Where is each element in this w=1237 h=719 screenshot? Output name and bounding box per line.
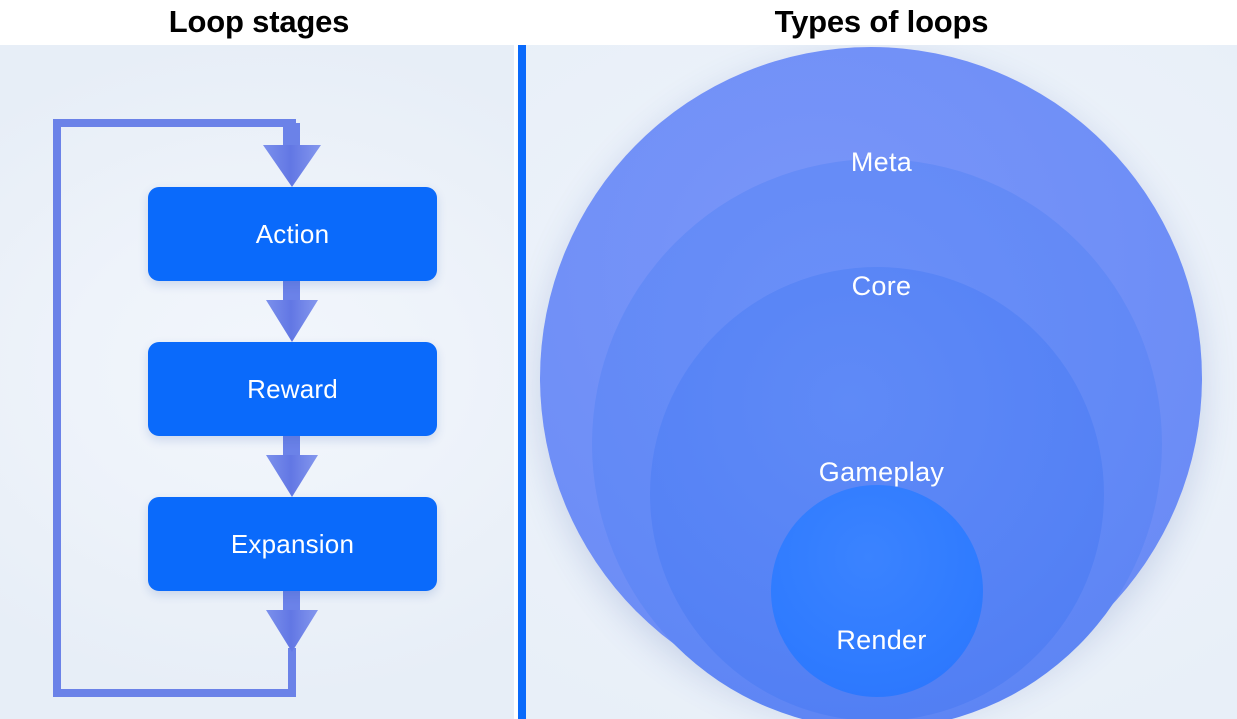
page-title-loop-stages: Loop stages <box>0 1 518 43</box>
panel-divider <box>518 45 526 719</box>
panel-types-of-loops: Meta Core Gameplay Render <box>526 45 1237 719</box>
flow-node-expansion[interactable]: Expansion <box>148 497 437 591</box>
arrow-expansion-to-loop <box>266 591 318 652</box>
panel-loop-stages: Action Reward Expansion <box>0 45 514 719</box>
ring-gameplay-label: Gameplay <box>526 457 1237 488</box>
nested-loops-group: Meta Core Gameplay Render <box>526 45 1237 719</box>
flow-node-expansion-label: Expansion <box>231 529 354 560</box>
ring-core-label: Core <box>526 271 1237 302</box>
flow-node-reward-label: Reward <box>247 374 338 405</box>
title-bar: Loop stages Types of loops <box>0 0 1237 45</box>
arrow-reward-to-expansion <box>266 436 318 497</box>
flow-node-action[interactable]: Action <box>148 187 437 281</box>
ring-render-label: Render <box>526 625 1237 656</box>
ring-meta-label: Meta <box>526 147 1237 178</box>
arrow-action-to-reward <box>266 281 318 342</box>
arrow-into-action <box>263 123 321 187</box>
flow-node-action-label: Action <box>256 219 329 250</box>
diagram-canvas: Loop stages Types of loops <box>0 0 1237 719</box>
page-title-types-of-loops: Types of loops <box>526 1 1237 43</box>
flow-node-reward[interactable]: Reward <box>148 342 437 436</box>
ring-render[interactable] <box>771 485 983 697</box>
